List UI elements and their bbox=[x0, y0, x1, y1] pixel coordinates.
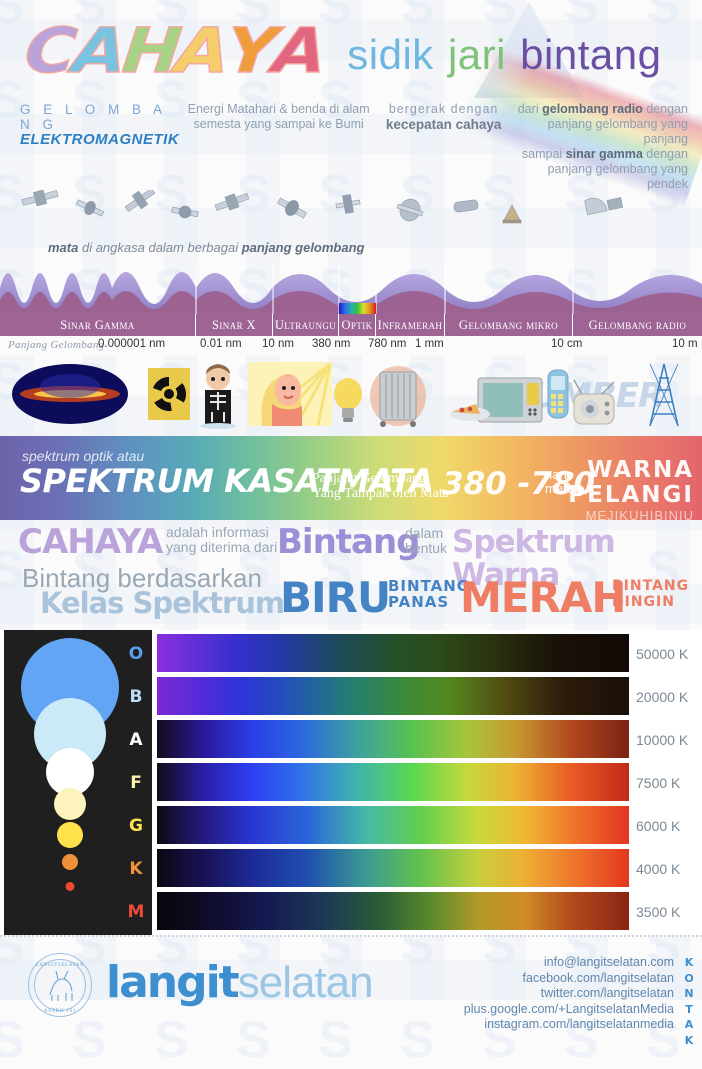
spectral-class-label-B: B bbox=[125, 687, 147, 707]
svg-text:ASTRO 101: ASTRO 101 bbox=[43, 1009, 75, 1014]
star-circle-M bbox=[66, 882, 75, 891]
em-sources-row: SUMBER bbox=[0, 356, 702, 432]
visible-description: Panjang Gelombang Yang Tampak oleh Mata bbox=[312, 471, 449, 501]
contact-link-4[interactable]: instagram.com/langitselatanmedia bbox=[464, 1017, 674, 1033]
em-band-ultraungu[interactable]: Ultraungu bbox=[273, 314, 339, 336]
title-letter-5: A bbox=[268, 20, 330, 82]
statement-biru: BIRU bbox=[280, 576, 390, 620]
intro-panjang-text: panjang gelombang yang panjang bbox=[515, 117, 688, 147]
spectral-class-label-A: A bbox=[125, 730, 147, 750]
subtitle-word-bintang: bintang bbox=[519, 31, 662, 78]
statement-dalam: dalam bbox=[405, 525, 443, 541]
wavelength-tick-3: 380 nm bbox=[312, 338, 350, 350]
kontak-letter-0: K bbox=[682, 955, 696, 971]
contact-link-2[interactable]: twitter.com/langitselatan bbox=[464, 986, 674, 1002]
temperature-label-B: 20000 K bbox=[636, 689, 688, 705]
footer: LANGITSELATAN ASTRO 101 langitselatan in… bbox=[0, 935, 702, 1031]
page-subtitle: sidik jari bintang bbox=[346, 32, 662, 78]
em-band-inframerah[interactable]: Inframerah bbox=[376, 314, 445, 336]
spectrum-strip-M[interactable] bbox=[157, 892, 629, 930]
spectrum-strip-F[interactable] bbox=[157, 763, 629, 801]
wavelength-tick-6: 10 cm bbox=[551, 338, 582, 350]
intro-col-electromagnetic: G E L O M B A N G ELEKTROMAGNETIK bbox=[20, 102, 179, 192]
caption-mid: di angkasa dalam berbagai bbox=[78, 240, 241, 255]
desc-line-2: Yang Tampak oleh Mata bbox=[312, 486, 449, 501]
intro-dengan-text: dengan bbox=[643, 102, 688, 116]
intro-sinar-gamma-text: sinar gamma bbox=[566, 147, 643, 161]
contact-link-3[interactable]: plus.google.com/+LangitselatanMedia bbox=[464, 1002, 674, 1018]
pelangi-text: PELANGI bbox=[568, 483, 694, 508]
kontak-letter-4: A bbox=[682, 1017, 696, 1033]
statement-merah: MERAH bbox=[460, 576, 625, 620]
statement-adalah-informasi: adalah informasi bbox=[166, 524, 269, 540]
contact-link-0[interactable]: info@langitselatan.com bbox=[464, 955, 674, 971]
light-bulb-icon bbox=[334, 378, 362, 422]
statement-bintang: BINTANG bbox=[612, 578, 689, 594]
statement-bintang: Bintang bbox=[277, 524, 420, 560]
intro-elektromagnetik-label: ELEKTROMAGNETIK bbox=[20, 132, 179, 147]
tv-icon bbox=[574, 380, 614, 424]
temperature-label-F: 7500 K bbox=[636, 775, 680, 791]
intro-gelombang-label: G E L O M B A N G bbox=[20, 102, 179, 132]
intro-col-range: dari gelombang radio dengan panjang gelo… bbox=[515, 102, 688, 192]
intro-gelombang-radio-text: gelombang radio bbox=[542, 102, 643, 116]
em-band-gelombang-mikro[interactable]: Gelombang mikro bbox=[445, 314, 573, 336]
em-band-sinar-gamma[interactable]: Sinar Gamma bbox=[0, 314, 196, 336]
em-spectrum-bar: Sinar GammaSinar XUltraunguOptikInframer… bbox=[0, 314, 702, 336]
intro-text-block: G E L O M B A N G ELEKTROMAGNETIK Energi… bbox=[0, 96, 702, 192]
temperature-label-A: 10000 K bbox=[636, 732, 688, 748]
spectral-class-chart: O50000 KB20000 KA10000 KF7500 KG6000 KK4… bbox=[0, 630, 702, 935]
spectral-class-label-G: G bbox=[125, 816, 147, 836]
star-circle-F bbox=[54, 788, 86, 820]
subtitle-word-jari: jari bbox=[447, 31, 519, 78]
source-icons-svg bbox=[0, 356, 702, 432]
page-title: CAHAYA bbox=[26, 20, 324, 82]
spectrum-strip-A[interactable] bbox=[157, 720, 629, 758]
intro-dari-text: dari bbox=[518, 102, 542, 116]
spectral-class-label-K: K bbox=[125, 859, 147, 879]
statement-bentuk: bentuk bbox=[405, 540, 447, 556]
spectrum-strip-B[interactable] bbox=[157, 677, 629, 715]
wavelength-tick-2: 10 nm bbox=[262, 338, 294, 350]
caption-mata: mata bbox=[48, 240, 78, 255]
kontak-letter-2: N bbox=[682, 986, 696, 1002]
spectral-class-label-O: O bbox=[125, 644, 147, 664]
star-circle-G bbox=[57, 822, 83, 848]
statement-dingin: DINGIN bbox=[612, 594, 675, 610]
kontak-letter-5: K bbox=[682, 1033, 696, 1049]
subtitle-word-sidik: sidik bbox=[346, 31, 447, 78]
spectral-class-label-M: M bbox=[125, 902, 147, 922]
statement-panas: PANAS bbox=[388, 594, 449, 611]
wavelength-tick-4: 780 nm bbox=[368, 338, 406, 350]
radio-tower-icon bbox=[650, 364, 678, 426]
spectrum-strip-K[interactable] bbox=[157, 849, 629, 887]
kontak-vertical-label: KONTAK bbox=[682, 955, 696, 1048]
logo-langit: langit bbox=[106, 957, 238, 1008]
microwave-oven-icon bbox=[450, 378, 542, 422]
visible-spectrum-banner: spektrum optik atau SPEKTRUM KASATMATA P… bbox=[0, 436, 702, 520]
kontak-letter-1: O bbox=[682, 971, 696, 987]
warna-pelangi-label: WARNA PELANGI bbox=[568, 458, 694, 508]
contact-list: info@langitselatan.comfacebook.com/langi… bbox=[464, 955, 674, 1033]
statement-yang-diterima-dari: yang diterima dari bbox=[166, 539, 277, 555]
statement-kelas-spektrum: Kelas Spektrum bbox=[40, 588, 284, 619]
wavelength-tick-5: 1 mm bbox=[415, 338, 444, 350]
desc-line-1: Panjang Gelombang bbox=[312, 471, 449, 486]
em-band-gelombang-radio[interactable]: Gelombang radio bbox=[573, 314, 702, 336]
wavelength-tick-1: 0.01 nm bbox=[200, 338, 242, 350]
wavelength-scale-row: Panjang Gelombang 0.000001 nm0.01 nm10 n… bbox=[0, 336, 702, 356]
infrared-heater-icon bbox=[370, 366, 426, 427]
intro-bergerak-label: bergerak dengan bbox=[378, 102, 509, 117]
intro-kecepatan-label: kecepatan cahaya bbox=[378, 117, 509, 132]
intro-dengan2-text: dengan bbox=[643, 147, 688, 161]
header: CAHAYA sidik jari bintang bbox=[0, 0, 702, 96]
caption-panjang-gelombang: panjang gelombang bbox=[242, 240, 365, 255]
em-band-optik[interactable]: Optik bbox=[339, 314, 376, 336]
temperature-label-K: 4000 K bbox=[636, 861, 680, 877]
warna-text: WARNA bbox=[568, 458, 694, 483]
temperature-label-O: 50000 K bbox=[636, 646, 688, 662]
intro-sampai-text: sampai bbox=[522, 147, 566, 161]
satellite-illustration-strip: mata di angkasa dalam berbagai panjang g… bbox=[0, 194, 702, 254]
intro-col-energy: Energi Matahari & benda di alam semesta … bbox=[185, 102, 372, 192]
seal-art: LANGITSELATAN ASTRO 101 bbox=[28, 953, 92, 1017]
intro-col-speed: bergerak dengan kecepatan cahaya bbox=[378, 102, 509, 192]
temperature-label-G: 6000 K bbox=[636, 818, 680, 834]
temperature-label-M: 3500 K bbox=[636, 904, 680, 920]
satellite-caption: mata di angkasa dalam berbagai panjang g… bbox=[48, 240, 365, 255]
contact-link-1[interactable]: facebook.com/langitselatan bbox=[464, 971, 674, 987]
svg-text:LANGITSELATAN: LANGITSELATAN bbox=[35, 963, 83, 968]
uv-sunbathing-icon bbox=[248, 362, 332, 426]
statements-block: CAHAYAadalah informasiyang diterima dari… bbox=[0, 520, 702, 630]
spectrum-strip-G[interactable] bbox=[157, 806, 629, 844]
star-circle-K bbox=[62, 854, 78, 870]
wavelength-axis-title: Panjang Gelombang bbox=[8, 339, 104, 351]
intro-pendek-text: panjang gelombang yang pendek bbox=[515, 162, 688, 192]
optical-swatch-icon bbox=[339, 303, 376, 314]
wavelength-tick-7: 10 m bbox=[672, 338, 698, 350]
statement-cahaya: CAHAYA bbox=[18, 524, 162, 560]
kontak-letter-3: T bbox=[682, 1002, 696, 1018]
em-band-sinar-x[interactable]: Sinar X bbox=[196, 314, 273, 336]
langitselatan-seal-icon: LANGITSELATAN ASTRO 101 bbox=[28, 953, 92, 1017]
mobile-phone-icon bbox=[548, 370, 568, 418]
xray-person-icon bbox=[200, 364, 236, 429]
wavelength-tick-0: 0.000001 nm bbox=[98, 338, 165, 350]
spectral-class-label-F: F bbox=[125, 773, 147, 793]
spectrum-strip-O[interactable] bbox=[157, 634, 629, 672]
